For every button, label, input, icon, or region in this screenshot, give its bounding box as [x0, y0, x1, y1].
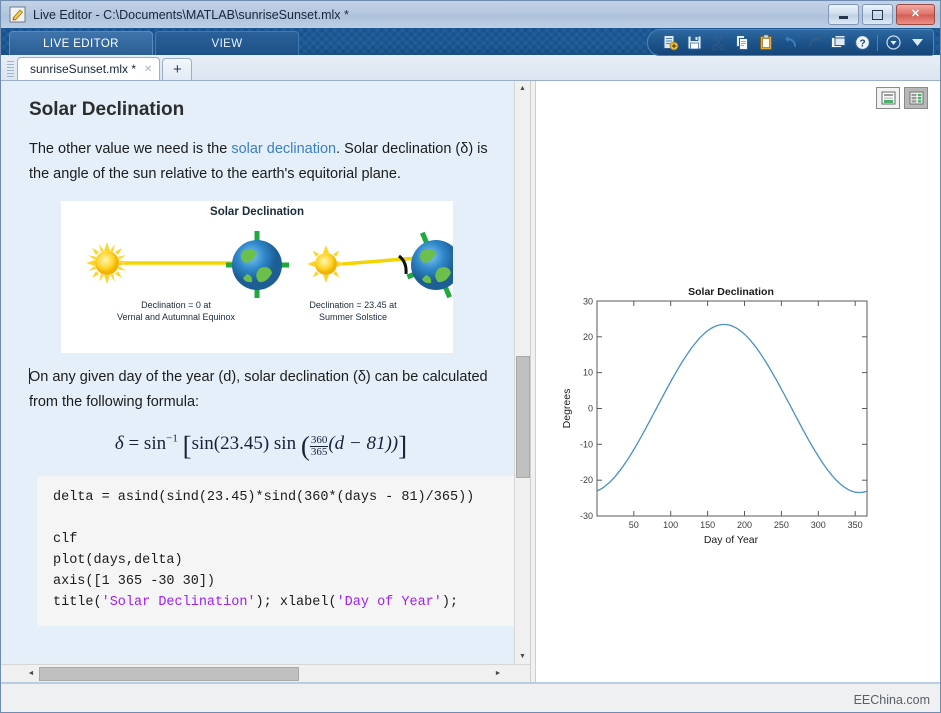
document-tab-label: sunriseSunset.mlx *	[30, 62, 136, 76]
plot-ytick-label: 0	[588, 404, 593, 414]
solar-declination-figure: Solar Declination	[61, 201, 453, 353]
status-bar: EEChina.com	[1, 683, 940, 712]
ribbon-tab-label: VIEW	[212, 38, 243, 50]
undo-icon[interactable]	[780, 33, 800, 53]
plot-xtick-label: 200	[737, 520, 752, 530]
close-tab-icon[interactable]: ✕	[144, 64, 152, 75]
code-string-literal: 'Solar Declination'	[102, 595, 256, 610]
ribbon-tab-live-editor[interactable]: LIVE EDITOR	[9, 31, 153, 55]
help-icon[interactable]: ?	[852, 33, 872, 53]
formula-open-paren: (	[301, 431, 310, 461]
formula-arcsin: sin	[144, 433, 166, 454]
document-vertical-scrollbar[interactable]: ▲ ▼	[514, 81, 530, 682]
new-tab-label: +	[173, 61, 182, 78]
plot-title: Solar Declination	[688, 286, 774, 298]
horizontal-scroll-thumb[interactable]	[39, 667, 299, 681]
save-icon[interactable]	[684, 33, 704, 53]
formula-lhs: δ	[115, 433, 124, 454]
document-tab-sunrisesunset[interactable]: sunriseSunset.mlx * ✕	[17, 57, 160, 80]
figure-caption-left-line2: Vernal and Autumnal Equinox	[117, 312, 235, 322]
formula-open-bracket: [	[183, 431, 192, 461]
plot-xlabel: Day of Year	[704, 534, 759, 546]
minimize-button[interactable]	[828, 4, 859, 25]
vertical-scroll-thumb[interactable]	[516, 356, 530, 478]
plot-ylabel: Degrees	[561, 389, 573, 429]
formula-inner2: (d − 81))	[328, 433, 398, 454]
document-pane: Solar Declination The other value we nee…	[1, 81, 530, 682]
scroll-up-arrow-icon[interactable]: ▲	[515, 81, 530, 96]
output-figure[interactable]: Solar Declination -30	[556, 281, 906, 556]
tab-strip-grip[interactable]	[7, 61, 14, 79]
code-line: axis([1 365 -30 30])	[53, 574, 215, 589]
redo-icon	[804, 33, 824, 53]
code-block[interactable]: delta = asind(sind(23.45)*sind(360*(days…	[37, 476, 524, 626]
copy-icon[interactable]	[732, 33, 752, 53]
close-button[interactable]: ✕	[896, 4, 935, 25]
figure-graphic	[61, 218, 453, 346]
plot-ytick-label: -20	[580, 475, 593, 485]
formula-inner1: sin(23.45) sin	[192, 433, 297, 454]
live-script-content[interactable]: Solar Declination The other value we nee…	[1, 81, 515, 682]
plot-xtick-label: 350	[848, 520, 863, 530]
output-inline-button[interactable]	[876, 87, 900, 109]
figure-caption-right-line2: Summer Solstice	[319, 312, 387, 322]
svg-text:?: ?	[859, 38, 865, 49]
code-string-literal: 'Day of Year'	[337, 595, 442, 610]
output-pane: Solar Declination -30	[536, 81, 940, 682]
ribbon-tab-label: LIVE EDITOR	[43, 38, 119, 50]
figure-caption-left: Declination = 0 at Vernal and Autumnal E…	[91, 299, 261, 323]
code-line: clf	[53, 532, 77, 547]
output-layout-buttons	[876, 87, 928, 109]
quick-access-toolbar: ?	[647, 29, 934, 56]
declination-formula: δ = sin−1 [sin(23.45) sin (360365(d − 81…	[29, 431, 493, 462]
document-tab-strip: sunriseSunset.mlx * ✕ +	[1, 55, 940, 81]
title-bar: Live Editor - C:\Documents\MATLAB\sunris…	[1, 1, 940, 28]
new-tab-button[interactable]: +	[162, 58, 192, 80]
document-horizontal-scrollbar[interactable]: ◄ ►	[1, 664, 530, 682]
output-side-by-side-button[interactable]	[904, 87, 928, 109]
toolbar-separator	[877, 35, 878, 51]
plot-xtick-label: 50	[629, 520, 639, 530]
watermark-label: EEChina.com	[854, 693, 930, 707]
solar-declination-plot: Solar Declination -30	[556, 281, 906, 556]
code-line-title: title('Solar Declination'); xlabel('Day …	[53, 595, 458, 610]
editor-body: Solar Declination The other value we nee…	[1, 81, 940, 682]
quick-access-dropdown-icon[interactable]	[883, 33, 903, 53]
solar-declination-link[interactable]: solar declination	[231, 141, 336, 157]
figure-caption-right: Declination = 23.45 at Summer Solstice	[268, 299, 438, 323]
expand-ribbon-icon[interactable]	[907, 33, 927, 53]
code-line: plot(days,delta)	[53, 553, 183, 568]
intro-text-pre: The other value we need is the	[29, 141, 231, 157]
maximize-button[interactable]	[862, 4, 893, 25]
plot-ytick-label: -10	[580, 439, 593, 449]
formula-fraction: 360365	[310, 435, 329, 458]
scroll-right-arrow-icon[interactable]: ►	[490, 665, 506, 681]
ribbon-tab-view[interactable]: VIEW	[155, 31, 299, 55]
scroll-left-arrow-icon[interactable]: ◄	[23, 665, 39, 681]
plot-xtick-label: 100	[663, 520, 678, 530]
window-title: Live Editor - C:\Documents\MATLAB\sunris…	[33, 8, 349, 22]
window-layout-icon[interactable]	[828, 33, 848, 53]
intro-paragraph: The other value we need is the solar dec…	[29, 137, 493, 187]
page-title: Solar Declination	[29, 99, 493, 121]
live-editor-window: Live Editor - C:\Documents\MATLAB\sunris…	[0, 0, 941, 713]
formula-intro-text: On any given day of the year (d), solar …	[29, 369, 488, 410]
plot-ytick-label: 30	[583, 297, 593, 307]
scroll-down-arrow-icon[interactable]: ▼	[515, 649, 530, 664]
live-editor-icon	[9, 6, 26, 23]
plot-ytick-label: -30	[580, 511, 593, 521]
new-document-icon[interactable]	[660, 33, 680, 53]
cut-icon	[708, 33, 728, 53]
formula-frac-denominator: 365	[310, 447, 329, 458]
ribbon-bar: LIVE EDITOR VIEW	[1, 28, 940, 55]
formula-equals: =	[128, 433, 139, 454]
formula-intro-paragraph: On any given day of the year (d), solar …	[29, 365, 493, 415]
code-line: delta = asind(sind(23.45)*sind(360*(days…	[53, 490, 474, 505]
formula-close-bracket: ]	[398, 431, 407, 461]
paste-icon[interactable]	[756, 33, 776, 53]
figure-title: Solar Declination	[61, 201, 453, 218]
plot-ytick-label: 10	[583, 368, 593, 378]
plot-xtick-label: 250	[774, 520, 789, 530]
figure-caption-left-line1: Declination = 0 at	[141, 300, 211, 310]
plot-xtick-label: 300	[811, 520, 826, 530]
plot-ytick-label: 20	[583, 332, 593, 342]
window-controls: ✕	[828, 4, 935, 25]
figure-caption-right-line1: Declination = 23.45 at	[309, 300, 396, 310]
plot-xtick-label: 150	[700, 520, 715, 530]
formula-exponent: −1	[166, 433, 178, 445]
